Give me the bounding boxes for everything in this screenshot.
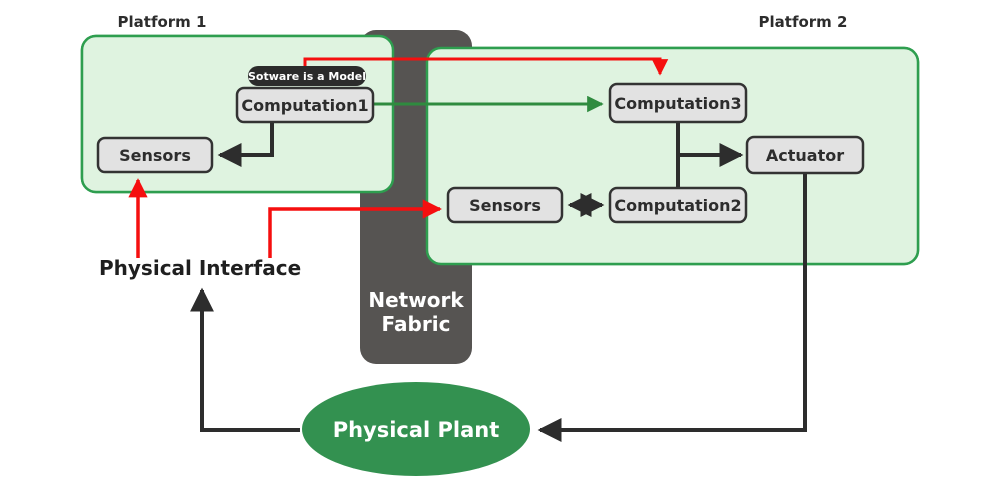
node-sensors-2-label: Sensors [469, 196, 541, 215]
node-actuator-label: Actuator [766, 146, 844, 165]
network-fabric-label-line1: Network [368, 288, 464, 312]
cyber-physical-system-diagram: Network Fabric Platform 1 Platform 2 [0, 0, 1000, 500]
physical-interface-label: Physical Interface [99, 256, 301, 280]
platform-2-title: Platform 2 [759, 13, 848, 31]
node-computation-1[interactable]: Computation1 [237, 88, 373, 122]
node-sensors-2[interactable]: Sensors [448, 188, 562, 222]
platform-1-title: Platform 1 [118, 13, 207, 31]
node-computation-3[interactable]: Computation3 [610, 84, 746, 122]
physical-plant-label: Physical Plant [333, 418, 500, 442]
node-actuator[interactable]: Actuator [747, 137, 863, 173]
software-is-a-model-badge-label: Sotware is a Model [248, 70, 366, 83]
node-computation-2-label: Computation2 [614, 196, 741, 215]
physical-plant[interactable]: Physical Plant [302, 382, 530, 476]
node-sensors-1-label: Sensors [119, 146, 191, 165]
network-fabric-label-line2: Fabric [382, 312, 451, 336]
edge-physical-plant-to-physical-interface [202, 290, 300, 430]
software-is-a-model-badge[interactable]: Sotware is a Model [248, 66, 366, 86]
node-sensors-1[interactable]: Sensors [98, 138, 212, 172]
node-computation-1-label: Computation1 [241, 96, 368, 115]
node-computation-2[interactable]: Computation2 [610, 188, 746, 222]
node-computation-3-label: Computation3 [614, 94, 741, 113]
diagram-canvas: Network Fabric Platform 1 Platform 2 [0, 0, 1000, 500]
